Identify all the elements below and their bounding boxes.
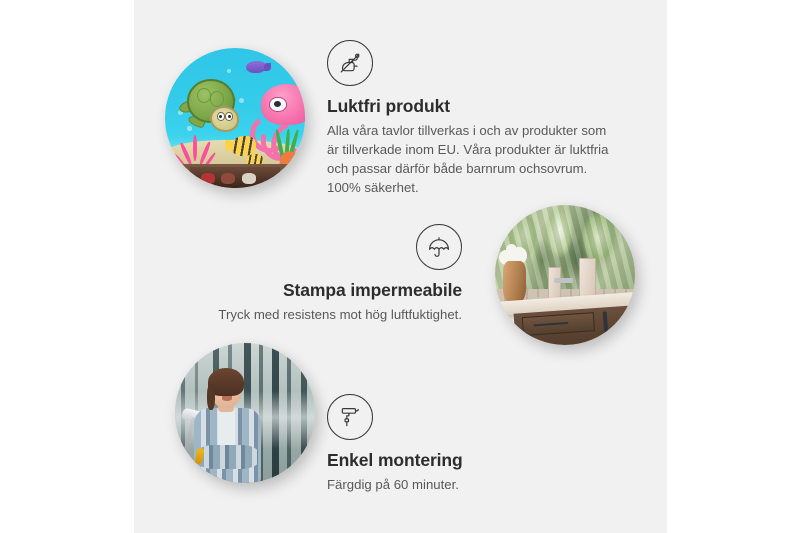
bottle-icon [548, 267, 561, 300]
screenshot-root: Luktfri produkt Alla våra tavlor tillver… [0, 0, 800, 533]
feature-title: Luktfri produkt [327, 96, 621, 117]
paint-roller-icon [327, 394, 373, 440]
feature-easy-installation: Enkel montering Färgdig på 60 minuter. [327, 394, 567, 495]
feature-odourless-product: Luktfri produkt Alla våra tavlor tillver… [327, 40, 621, 198]
sea-foreground-objects [190, 167, 280, 188]
purple-fish-icon [246, 61, 266, 74]
feature-description: Alla våra tavlor tillverkas i och av pro… [327, 122, 621, 198]
feature-title: Enkel montering [327, 450, 567, 471]
feature-waterproof-print: Stampa impermeabile Tryck med resistens … [194, 224, 462, 325]
feature-panel: Luktfri produkt Alla våra tavlor tillver… [134, 0, 667, 533]
feature-icon-wrap [327, 40, 621, 86]
feature-icon-wrap [327, 394, 567, 440]
medallion-underwater-wallpaper[interactable] [165, 48, 305, 188]
no-fragrance-icon [327, 40, 373, 86]
feature-description: Färgdig på 60 minuter. [327, 476, 567, 495]
yellow-fish-icon [231, 136, 256, 156]
bubble-icon [227, 69, 231, 73]
bathroom-scene [495, 205, 635, 345]
woman-figure [183, 365, 270, 483]
forest-wallpaper-scene [175, 343, 315, 483]
medallion-bathroom-wallpaper[interactable] [495, 205, 635, 345]
underwater-scene [165, 48, 305, 188]
feature-description: Tryck med resistens mot hög luftfuktighe… [194, 306, 462, 325]
feature-icon-wrap [194, 224, 462, 270]
turtle-icon [182, 79, 244, 132]
umbrella-icon [416, 224, 462, 270]
medallion-installation-photo[interactable] [175, 343, 315, 483]
faucet-icon [554, 278, 574, 283]
vase-icon [503, 261, 525, 303]
feature-title: Stampa impermeabile [194, 280, 462, 301]
